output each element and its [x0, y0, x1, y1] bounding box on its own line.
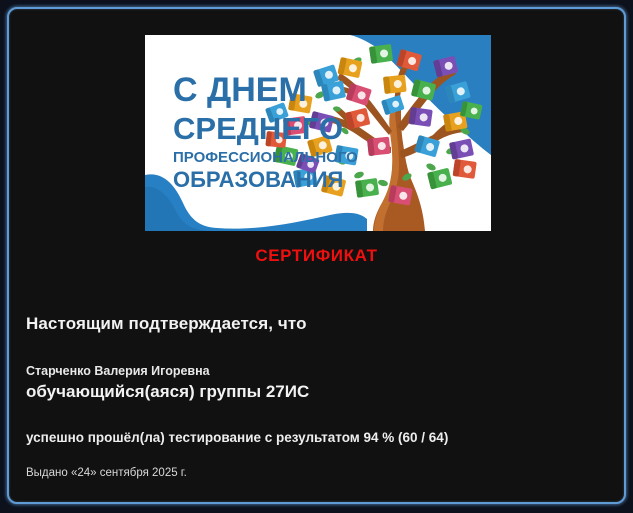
- result-score: 94 % (60 / 64): [364, 430, 449, 445]
- certificate-body: Настоящим подтверждается, что Старченко …: [26, 314, 600, 479]
- banner-line-4: ОБРАЗОВАНИЯ: [173, 167, 343, 192]
- result-line-prefix: успешно прошёл(ла) тестирование с резуль…: [26, 430, 364, 445]
- result-line: успешно прошёл(ла) тестирование с резуль…: [26, 430, 600, 445]
- certificate-title: СЕРТИФИКАТ: [9, 246, 624, 266]
- confirmation-line: Настоящим подтверждается, что: [26, 314, 600, 334]
- group-code: 27ИС: [266, 382, 309, 401]
- group-line: обучающийся(аяся) группы 27ИС: [26, 382, 600, 402]
- banner-image: С ДНЕМ СРЕДНЕГО ПРОФЕССИОНАЛЬНОГО ОБРАЗО…: [145, 35, 491, 231]
- group-line-prefix: обучающийся(аяся) группы: [26, 382, 266, 401]
- issued-date-line: Выдано «24» сентября 2025 г.: [26, 467, 600, 479]
- banner-canvas: С ДНЕМ СРЕДНЕГО ПРОФЕССИОНАЛЬНОГО ОБРАЗО…: [145, 35, 491, 231]
- certificate-frame: С ДНЕМ СРЕДНЕГО ПРОФЕССИОНАЛЬНОГО ОБРАЗО…: [7, 7, 626, 504]
- banner-line-3: ПРОФЕССИОНАЛЬНОГО: [173, 149, 358, 166]
- student-name: Старченко Валерия Игоревна: [26, 364, 600, 378]
- banner-line-2: СРЕДНЕГО: [173, 111, 343, 146]
- banner-artwork: С ДНЕМ СРЕДНЕГО ПРОФЕССИОНАЛЬНОГО ОБРАЗО…: [145, 35, 491, 231]
- banner-line-1: С ДНЕМ: [173, 71, 307, 109]
- certificate-page: С ДНЕМ СРЕДНЕГО ПРОФЕССИОНАЛЬНОГО ОБРАЗО…: [0, 0, 633, 513]
